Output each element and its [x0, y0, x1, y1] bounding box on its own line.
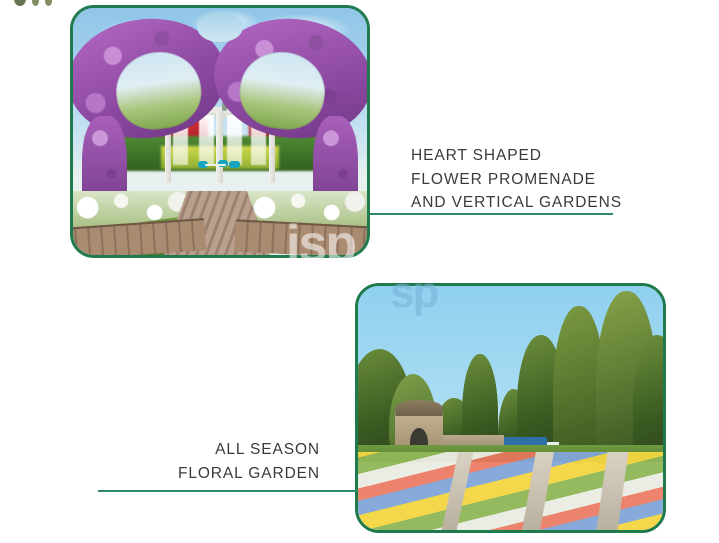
arch-center-notch [197, 12, 242, 43]
slide-canvas: isp HEART SHAPED FLOWER PROMENADE AND VE… [0, 0, 719, 543]
leaf-fragments-icon [14, 0, 66, 6]
feature-image-heart-garden[interactable] [70, 5, 370, 258]
heart-flower-arch [79, 15, 361, 208]
feature-caption-floral-garden: ALL SEASON FLORAL GARDEN [178, 438, 320, 485]
feature-image-floral-garden[interactable] [355, 283, 666, 533]
feature-image-floral-garden-content [358, 286, 663, 530]
feature-caption-heart-garden: HEART SHAPED FLOWER PROMENADE AND VERTIC… [411, 144, 622, 215]
brick-border-right [234, 219, 367, 255]
caption-divider-top [370, 213, 613, 215]
caption-divider-bottom [98, 490, 358, 492]
feature-image-heart-garden-content [73, 8, 367, 255]
